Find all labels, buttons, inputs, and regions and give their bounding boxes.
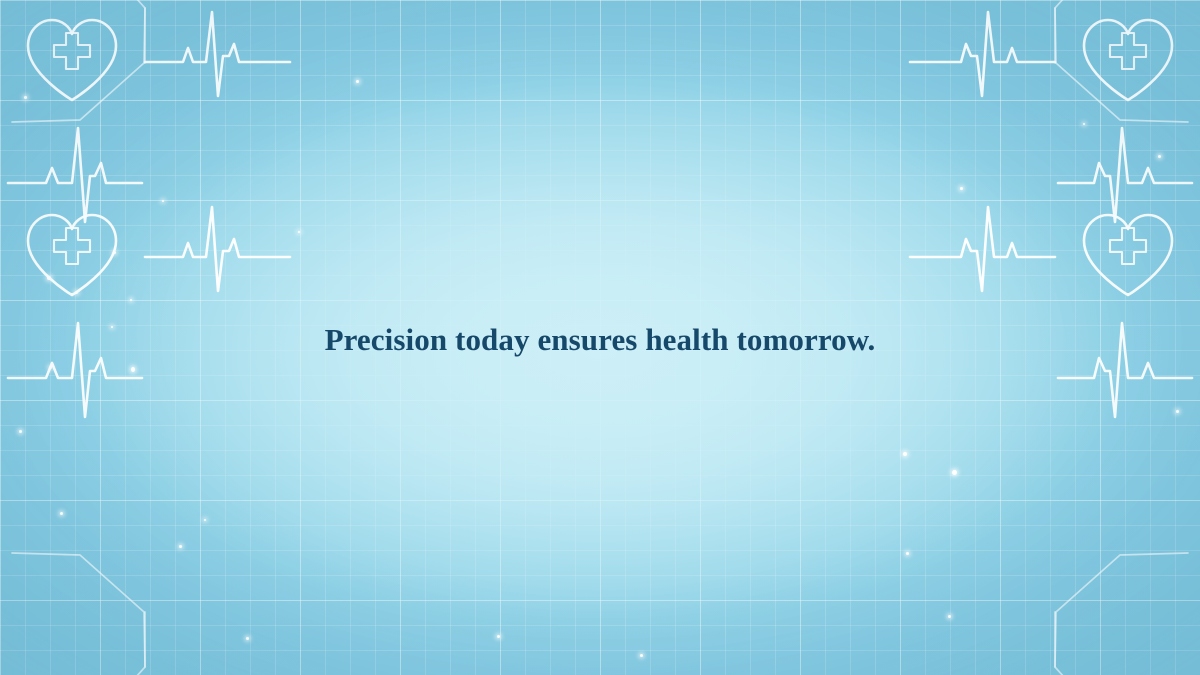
headline-container: Precision today ensures health tomorrow.: [0, 0, 1200, 675]
slide-headline: Precision today ensures health tomorrow.: [325, 321, 876, 358]
slide-canvas: Precision today ensures health tomorrow.: [0, 0, 1200, 675]
